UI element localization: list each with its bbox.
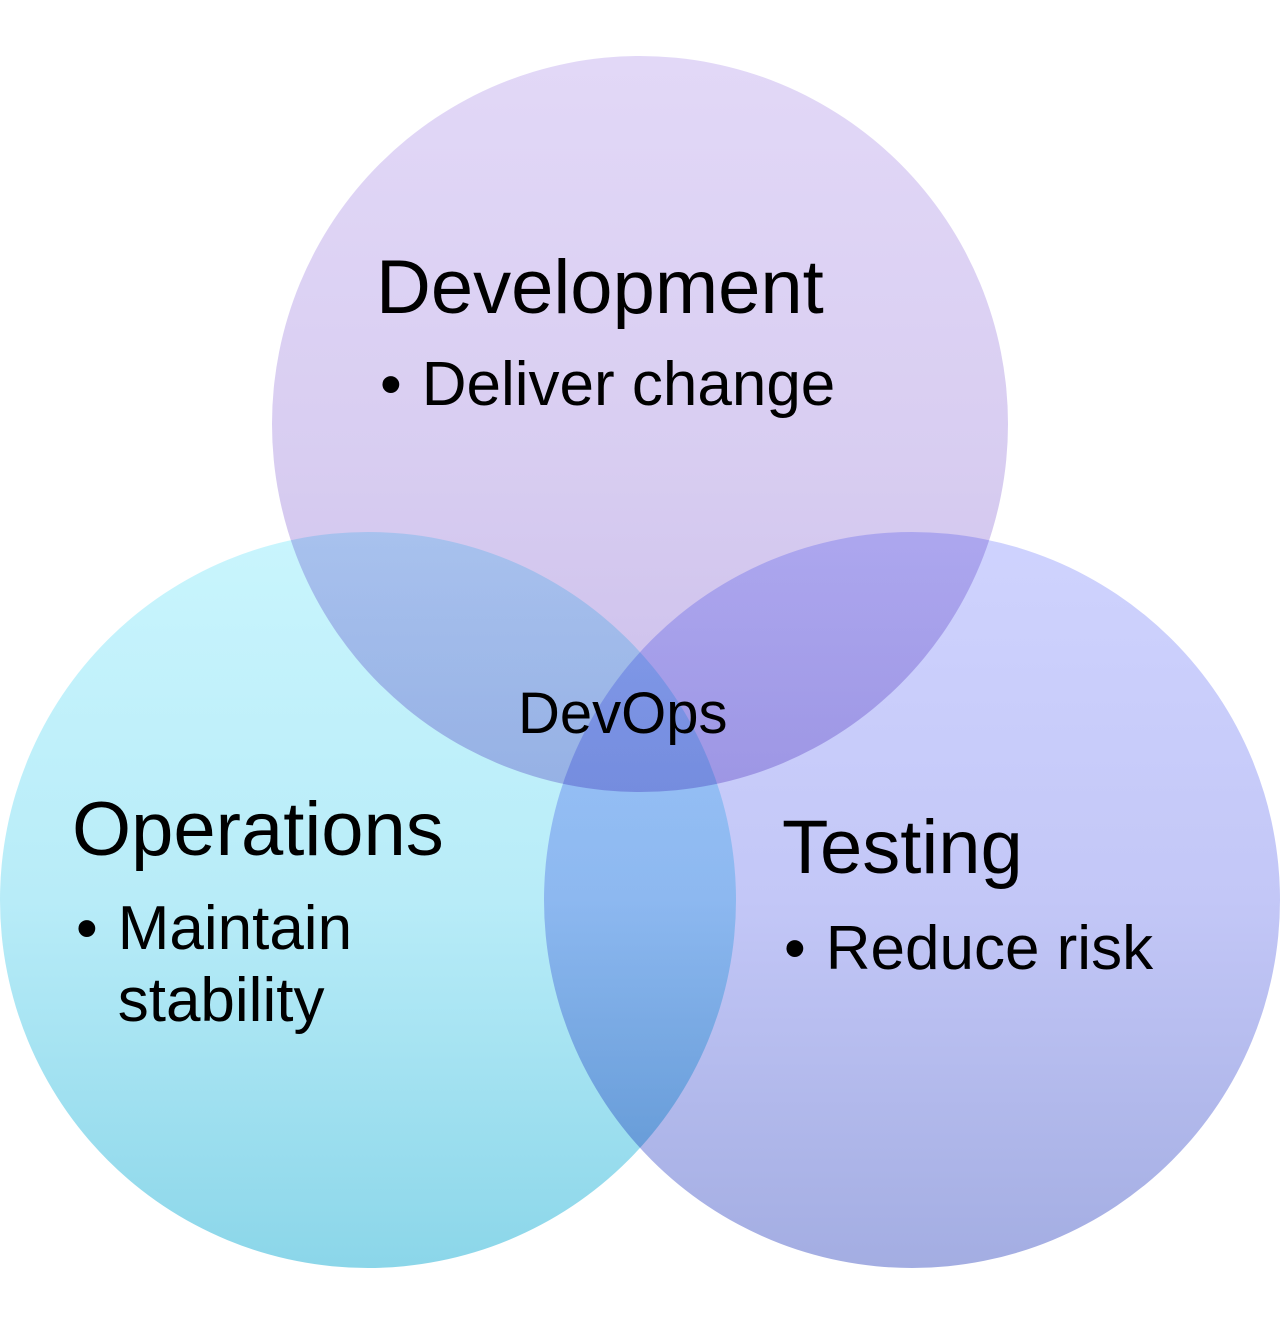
bullet-text-development: Deliver change (422, 349, 836, 421)
bullet-dot-icon: • (784, 913, 806, 985)
circle-title-development: Development (376, 248, 936, 327)
bullet-row-development: • Deliver change (380, 349, 936, 421)
bullet-text-testing: Reduce risk (826, 913, 1153, 985)
bullet-text-operations: Maintain stability (118, 893, 448, 1037)
bullet-row-testing: • Reduce risk (784, 913, 1252, 985)
venn-circles-canvas (0, 0, 1280, 1322)
label-intersection-devops: DevOps (518, 683, 728, 746)
circle-title-testing: Testing (782, 808, 1252, 887)
label-group-development: Development • Deliver change (376, 248, 936, 421)
bullet-row-operations: • Maintain stability (76, 893, 542, 1037)
bullet-dot-icon: • (76, 893, 98, 965)
label-group-operations: Operations • Maintain stability (72, 790, 542, 1037)
circle-title-operations: Operations (72, 790, 542, 869)
bullet-dot-icon: • (380, 349, 402, 421)
venn-diagram: Development • Deliver change Operations … (0, 0, 1280, 1322)
label-group-testing: Testing • Reduce risk (782, 808, 1252, 985)
